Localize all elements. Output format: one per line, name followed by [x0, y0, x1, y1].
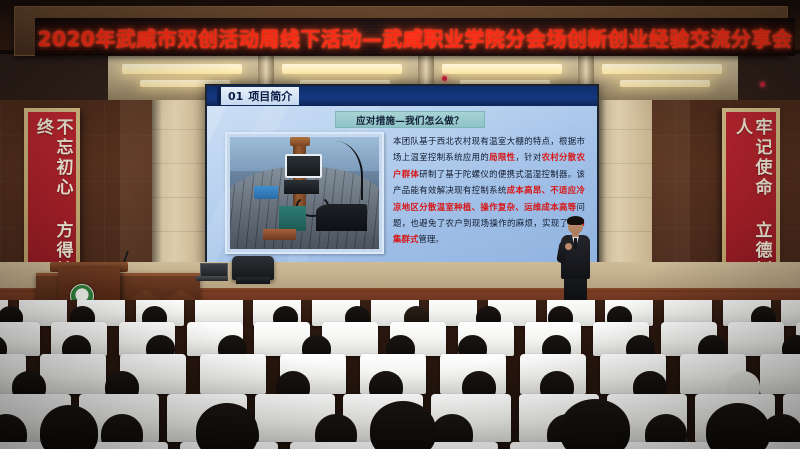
presenter-hand: [565, 243, 572, 250]
presenter-hair: [567, 216, 584, 225]
slide-text-segment-2: ，针对: [515, 152, 541, 162]
photo-controller-box: [285, 154, 322, 178]
ceiling-light-2: [282, 64, 402, 74]
slide-section-title: 项目简介: [248, 88, 292, 104]
ceiling-light-1: [122, 64, 242, 74]
slide-photo-frame: [225, 132, 384, 254]
presenter: [556, 217, 594, 305]
slide-text-segment-8: 管理。: [418, 234, 443, 244]
ceiling-light-8: [620, 80, 710, 87]
ceiling-indicator-right: [760, 82, 765, 87]
photo-blue-module: [254, 186, 278, 198]
slide-text-segment-1: 局限性: [489, 152, 515, 162]
stage-chair-seat: [236, 277, 270, 284]
led-banner-text: 2020年武威市双创活动周线下活动—武威职业学院分会场创新创业经验交流分享会: [38, 23, 793, 52]
photo-rust-base: [263, 229, 296, 240]
led-banner-screen: 2020年武威市双创活动周线下活动—武威职业学院分会场创新创业经验交流分享会: [35, 18, 795, 56]
audience-seat: [728, 322, 784, 356]
presentation-slide: 01 项目简介 应对措施—我们怎么做？ 本团队基: [207, 86, 597, 272]
audience-seat: [760, 354, 800, 394]
audience-area: [0, 300, 800, 449]
greenhouse-controller-photo: [230, 137, 379, 249]
photo-controller-lower: [284, 180, 320, 195]
presenter-tie: [574, 238, 577, 250]
audience-seat: [620, 442, 718, 449]
laptop-keyboard: [196, 276, 228, 281]
ceiling-sprinkler-indicator: [442, 76, 447, 81]
audience-seat: [200, 354, 266, 394]
ceiling-light-3: [442, 64, 562, 74]
slide-section-tag: 01 项目简介: [217, 87, 299, 105]
audience-seat: [40, 354, 106, 394]
slide-section-number: 01: [228, 90, 243, 103]
led-banner-frame: 2020年武威市双创活动周线下活动—武威职业学院分会场创新创业经验交流分享会: [14, 6, 788, 56]
audience-member-head-foreground: [196, 403, 258, 449]
conference-hall-photo: 2020年武威市双创活动周线下活动—武威职业学院分会场创新创业经验交流分享会 不…: [0, 0, 800, 449]
audience-seat: [322, 322, 378, 356]
photo-teal-base: [279, 206, 306, 231]
slide-subtitle-text: 应对措施—我们怎么做？: [356, 113, 464, 127]
ceiling-light-4: [602, 64, 722, 74]
photo-dark-equipment: [316, 204, 367, 231]
photo-pole-top: [290, 137, 311, 146]
audience-member-head-foreground: [370, 401, 436, 449]
slide-subtitle-banner: 应对措施—我们怎么做？: [335, 111, 485, 128]
ceiling-coffer-4: [588, 56, 738, 100]
